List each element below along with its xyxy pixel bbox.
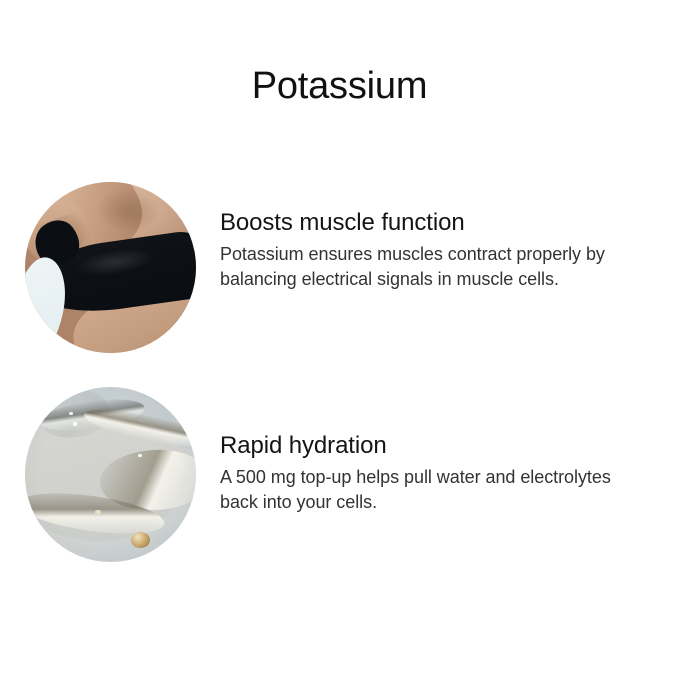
liquid-water-surface-photo: [25, 387, 196, 562]
photo-water-vignette: [25, 387, 196, 562]
photo-body-illustration: [25, 182, 196, 353]
feature-copy: Boosts muscle function Potassium ensures…: [220, 208, 650, 292]
woman-torso-black-sports-bra-photo: [25, 182, 196, 353]
feature-heading: Boosts muscle function: [220, 208, 650, 238]
feature-copy: Rapid hydration A 500 mg top-up helps pu…: [220, 431, 650, 515]
photo-water-illustration: [25, 387, 196, 562]
feature-description: A 500 mg top-up helps pull water and ele…: [220, 465, 650, 515]
feature-heading: Rapid hydration: [220, 431, 650, 461]
page-title: Potassium: [0, 63, 679, 109]
feature-description: Potassium ensures muscles contract prope…: [220, 242, 650, 292]
photo-shoulder-shadow: [94, 185, 161, 238]
product-benefits-infographic: Potassium Boosts muscle function Potassi…: [0, 0, 679, 679]
